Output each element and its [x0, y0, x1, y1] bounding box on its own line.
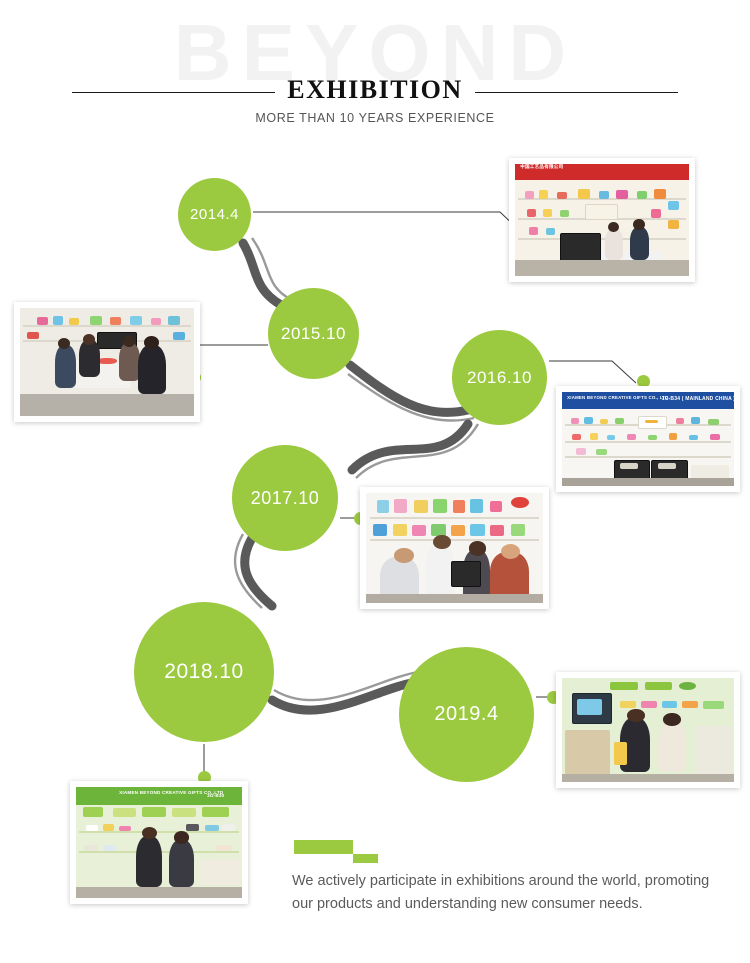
booth-photo-2014: 中国工艺品有限公司 — [515, 164, 689, 276]
booth-photo-2018: XIAMEN BEYOND CREATIVE GIFTS CO.,LTD 3G-… — [76, 787, 242, 898]
accent-bar-secondary — [353, 854, 378, 863]
timeline-node-label: 2017.10 — [251, 488, 320, 509]
booth-banner: XIAMEN BEYOND CREATIVE GIFTS CO., LTD. 1… — [562, 392, 734, 409]
booth-number-text: 3G-B30 — [207, 793, 224, 799]
timeline-node-label: 2014.4 — [190, 206, 239, 223]
photo-card-2019[interactable] — [556, 672, 740, 788]
timeline-node-2014[interactable]: 2014.4 — [178, 178, 251, 251]
timeline-node-2017[interactable]: 2017.10 — [232, 445, 338, 551]
timeline-node-2018[interactable]: 2018.10 — [134, 602, 274, 742]
booth-photo-2015 — [20, 308, 194, 416]
timeline-node-label: 2018.10 — [164, 660, 243, 684]
accent-bar-primary — [294, 840, 353, 854]
booth-number-text: 1C-B34 ( MAINLAND CHINA ) — [662, 396, 734, 402]
booth-photo-2017 — [366, 493, 543, 603]
booth-banner: 中国工艺品有限公司 — [515, 164, 689, 180]
booth-banner: XIAMEN BEYOND CREATIVE GIFTS CO.,LTD 3G-… — [76, 787, 242, 805]
booth-photo-2016: XIAMEN BEYOND CREATIVE GIFTS CO., LTD. 1… — [562, 392, 734, 486]
footer-paragraph: We actively participate in exhibitions a… — [292, 870, 710, 916]
booth-photo-2019 — [562, 678, 734, 782]
booth-banner-text: XIAMEN BEYOND CREATIVE GIFTS CO., LTD. — [567, 395, 670, 401]
photo-card-2015[interactable] — [14, 302, 200, 422]
timeline-node-2019[interactable]: 2019.4 — [399, 647, 534, 782]
timeline-node-2015[interactable]: 2015.10 — [268, 288, 359, 379]
photo-card-2014[interactable]: 中国工艺品有限公司 — [509, 158, 695, 282]
photo-card-2016[interactable]: XIAMEN BEYOND CREATIVE GIFTS CO., LTD. 1… — [556, 386, 740, 492]
photo-card-2017[interactable] — [360, 487, 549, 609]
timeline-node-label: 2019.4 — [434, 703, 498, 726]
photo-card-2018[interactable]: XIAMEN BEYOND CREATIVE GIFTS CO.,LTD 3G-… — [70, 781, 248, 904]
timeline-node-label: 2016.10 — [467, 368, 532, 388]
booth-banner-text: 中国工艺品有限公司 — [520, 164, 563, 170]
exhibition-timeline-page: BEYOND EXHIBITION MORE THAN 10 YEARS EXP… — [0, 0, 750, 963]
page-subtitle: MORE THAN 10 YEARS EXPERIENCE — [0, 110, 750, 126]
timeline-node-label: 2015.10 — [281, 324, 346, 344]
page-title: EXHIBITION — [0, 76, 750, 104]
timeline-node-2016[interactable]: 2016.10 — [452, 330, 547, 425]
